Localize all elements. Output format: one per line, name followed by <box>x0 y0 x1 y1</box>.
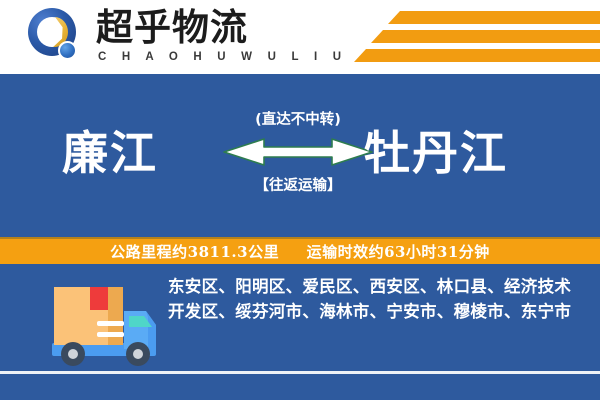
stripe-bottom <box>354 49 600 62</box>
route-info-text: 公路里程约3811.3公里 运输时效约63小时31分钟 <box>110 241 490 262</box>
logo-dot <box>58 41 77 60</box>
brand-name-cn: 超乎物流 <box>96 7 296 49</box>
destination-city: 牡丹江 <box>364 124 508 182</box>
route-section: 廉江 (直达不中转) 【往返运输】 牡丹江 <box>0 74 600 237</box>
brand-name-en: C H A O H U W U L I U <box>96 49 296 65</box>
stripe-top <box>388 11 600 24</box>
logistics-route-banner: 超乎物流 C H A O H U W U L I U 廉江 (直达不中转) 【往… <box>0 0 600 400</box>
coverage-districts: 东安区、阳明区、爱民区、西安区、林口县、经济技术开发区、绥芬河市、海林市、宁安市… <box>168 274 583 324</box>
origin-city: 廉江 <box>62 124 158 182</box>
distance-text: 公路里程约3811.3公里 <box>110 243 279 261</box>
brand-wordmark: 超乎物流 C H A O H U W U L I U <box>96 7 296 65</box>
coverage-section: 东安区、阳明区、爱民区、西安区、林口县、经济技术开发区、绥芬河市、海林市、宁安市… <box>0 264 600 400</box>
stripe-middle <box>371 30 600 43</box>
delivery-truck-icon <box>28 277 160 371</box>
route-info-bar: 公路里程约3811.3公里 运输时效约63小时31分钟 <box>0 237 600 264</box>
road-line <box>0 371 600 374</box>
banner-header: 超乎物流 C H A O H U W U L I U <box>0 0 600 74</box>
roundtrip-tag: 【往返运输】 <box>222 176 374 196</box>
direct-tag: (直达不中转) <box>222 110 374 130</box>
double-headed-arrow-icon <box>222 136 374 168</box>
duration-text: 运输时效约63小时31分钟 <box>307 243 490 261</box>
circle-q-logo-icon <box>28 8 86 66</box>
decorative-stripes <box>340 0 600 74</box>
route-middle: (直达不中转) 【往返运输】 <box>222 110 374 196</box>
